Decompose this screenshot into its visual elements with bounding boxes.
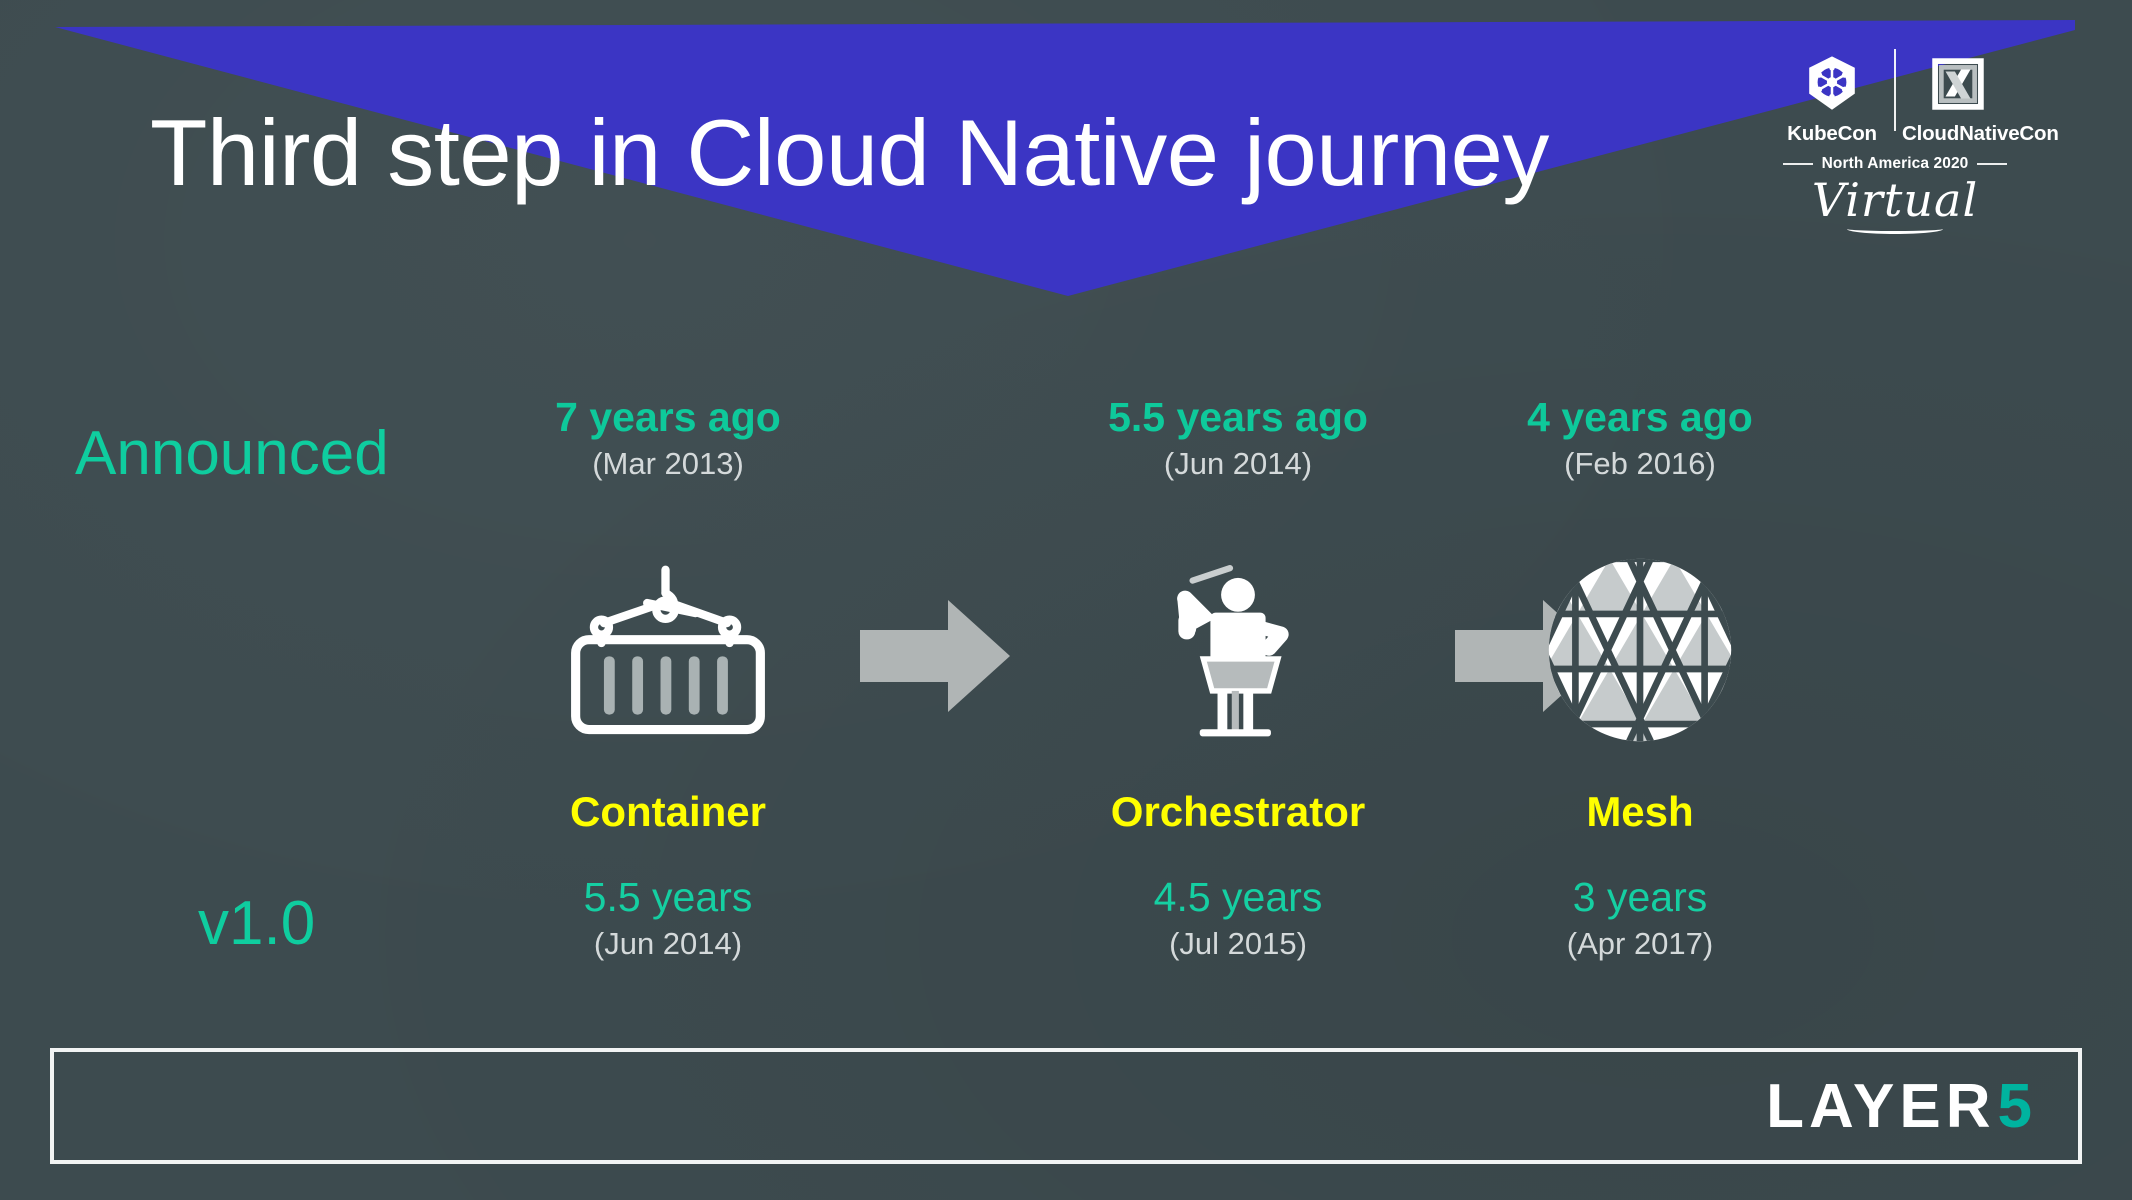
tech-name-orchestrator: Orchestrator xyxy=(1018,788,1458,836)
v1-years-orchestrator: 4.5 years xyxy=(1018,875,1458,920)
conductor-podium-icon xyxy=(1153,561,1323,739)
cncf-logo-cell xyxy=(1902,58,2014,110)
shipping-container-icon xyxy=(564,563,772,738)
announced-years-container: 7 years ago xyxy=(448,395,888,440)
v1-cell-mesh: 3 years (Apr 2017) xyxy=(1420,875,1860,962)
v1-years-mesh: 3 years xyxy=(1420,875,1860,920)
region-rule-left xyxy=(1783,163,1813,165)
cloudnativecon-label: CloudNativeCon xyxy=(1902,122,2014,146)
kubernetes-logo-cell xyxy=(1776,54,1888,114)
layer5-wordmark: LAYER xyxy=(1766,1076,1995,1138)
layer5-digit: 5 xyxy=(1998,1076,2032,1138)
conference-virtual-label: Virtual xyxy=(1760,177,2030,223)
arrow-container-to-orchestrator xyxy=(860,596,1010,716)
triangular-mesh-circle-icon xyxy=(1545,555,1735,745)
v1-cell-container: 5.5 years (Jun 2014) xyxy=(448,875,888,962)
announced-cell-orchestrator: 5.5 years ago (Jun 2014) xyxy=(1018,395,1458,482)
announced-date-orchestrator: (Jun 2014) xyxy=(1018,446,1458,482)
announced-cell-container: 7 years ago (Mar 2013) xyxy=(448,395,888,482)
row-label-v1: v1.0 xyxy=(198,888,315,959)
region-rule-right xyxy=(1977,163,2007,165)
conference-logo-marks xyxy=(1760,52,2030,116)
announced-date-container: (Mar 2013) xyxy=(448,446,888,482)
v1-years-container: 5.5 years xyxy=(448,875,888,920)
announced-cell-mesh: 4 years ago (Feb 2016) xyxy=(1420,395,1860,482)
announced-years-mesh: 4 years ago xyxy=(1420,395,1860,440)
announced-date-mesh: (Feb 2016) xyxy=(1420,446,1860,482)
icon-slot-container xyxy=(448,560,888,740)
cloudnativecon-square-icon xyxy=(1932,58,1984,110)
tech-name-mesh: Mesh xyxy=(1420,788,1860,836)
kubernetes-helm-wheel-icon xyxy=(1802,54,1862,114)
footer-frame: LAYER 5 xyxy=(50,1048,2082,1164)
slide-canvas: Third step in Cloud Native journey xyxy=(0,0,2132,1200)
kubecon-label: KubeCon xyxy=(1776,122,1888,146)
v1-date-mesh: (Apr 2017) xyxy=(1420,926,1860,962)
conference-region-label: North America 2020 xyxy=(1822,155,1969,173)
layer5-logo: LAYER 5 xyxy=(1766,1068,2032,1146)
v1-date-orchestrator: (Jul 2015) xyxy=(1018,926,1458,962)
page-title: Third step in Cloud Native journey xyxy=(150,106,1549,200)
right-arrow-icon xyxy=(860,596,1010,716)
tech-name-container: Container xyxy=(448,788,888,836)
logo-divider xyxy=(1894,49,1896,131)
conference-region-row: North America 2020 xyxy=(1760,155,2030,173)
v1-cell-orchestrator: 4.5 years (Jul 2015) xyxy=(1018,875,1458,962)
icon-slot-orchestrator xyxy=(1018,560,1458,740)
icon-slot-mesh xyxy=(1420,560,1860,740)
conference-logo: KubeCon CloudNativeCon North America 202… xyxy=(1760,52,2030,234)
v1-date-container: (Jun 2014) xyxy=(448,926,888,962)
row-label-announced: Announced xyxy=(75,418,389,489)
announced-years-orchestrator: 5.5 years ago xyxy=(1018,395,1458,440)
